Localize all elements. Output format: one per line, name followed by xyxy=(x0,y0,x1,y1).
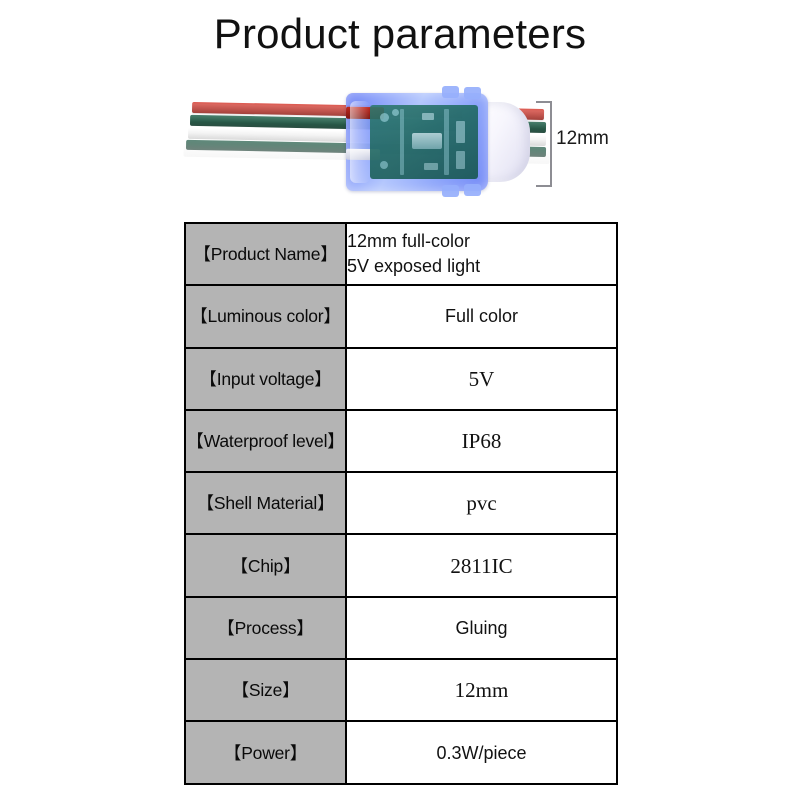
housing-highlight xyxy=(350,101,370,183)
table-row: 【Chip】2811IC xyxy=(185,534,617,596)
housing-tab-top-right xyxy=(464,87,481,99)
spec-value-cell: 5V xyxy=(346,348,617,410)
spec-value-cell: 12mm xyxy=(346,659,617,721)
pcb-chip xyxy=(412,133,442,149)
product-photo: 12mm xyxy=(184,80,616,208)
table-row: 【Product Name】12mm full-color5V exposed … xyxy=(185,223,617,285)
spec-label-cell: 【Process】 xyxy=(185,597,346,659)
table-row: 【Waterproof level】IP68 xyxy=(185,410,617,472)
spec-label-cell: 【Product Name】 xyxy=(185,223,346,285)
product-parameters-table: 【Product Name】12mm full-color5V exposed … xyxy=(184,222,618,785)
pcb-trace xyxy=(400,109,404,175)
housing-tab-top-left xyxy=(442,86,459,98)
spec-label-cell: 【Shell Material】 xyxy=(185,472,346,534)
pcb-pad xyxy=(380,113,389,122)
pcb-resistor xyxy=(422,113,434,120)
spec-label-cell: 【Waterproof level】 xyxy=(185,410,346,472)
spec-value-cell: 0.3W/piece xyxy=(346,721,617,783)
spec-label-cell: 【Power】 xyxy=(185,721,346,783)
spec-label-cell: 【Chip】 xyxy=(185,534,346,596)
blue-translucent-housing-icon xyxy=(346,93,488,191)
pcb-resistor xyxy=(456,121,465,143)
green-circuit-board-icon xyxy=(370,105,478,179)
spec-value-cell: pvc xyxy=(346,472,617,534)
housing-tab-bottom-left xyxy=(442,185,459,197)
spec-value-line: 12mm full-color xyxy=(347,229,616,254)
housing-tab-bottom-right xyxy=(464,184,481,196)
pcb-trace xyxy=(444,109,449,175)
spec-value-cell: 2811IC xyxy=(346,534,617,596)
page-title: Product parameters xyxy=(0,6,800,62)
table-body: 【Product Name】12mm full-color5V exposed … xyxy=(185,223,617,784)
pcb-pad xyxy=(380,161,388,169)
spec-label-cell: 【Input voltage】 xyxy=(185,348,346,410)
pcb-pad xyxy=(392,109,399,116)
spec-value-line: 5V exposed light xyxy=(347,254,616,279)
table-row: 【Process】Gluing xyxy=(185,597,617,659)
pcb-resistor xyxy=(424,163,438,170)
spec-value-cell: IP68 xyxy=(346,410,617,472)
spec-label-cell: 【Luminous color】 xyxy=(185,285,346,347)
table-row: 【Shell Material】pvc xyxy=(185,472,617,534)
table-row: 【Luminous color】Full color xyxy=(185,285,617,347)
spec-label-cell: 【Size】 xyxy=(185,659,346,721)
dimension-bracket-icon xyxy=(536,101,552,187)
pcb-resistor xyxy=(456,151,465,169)
table-row: 【Power】0.3W/piece xyxy=(185,721,617,783)
spec-value-cell: Full color xyxy=(346,285,617,347)
spec-value-cell: 12mm full-color5V exposed light xyxy=(346,223,617,285)
dimension-label: 12mm xyxy=(556,128,609,150)
table-row: 【Input voltage】5V xyxy=(185,348,617,410)
spec-value-cell: Gluing xyxy=(346,597,617,659)
table-row: 【Size】12mm xyxy=(185,659,617,721)
